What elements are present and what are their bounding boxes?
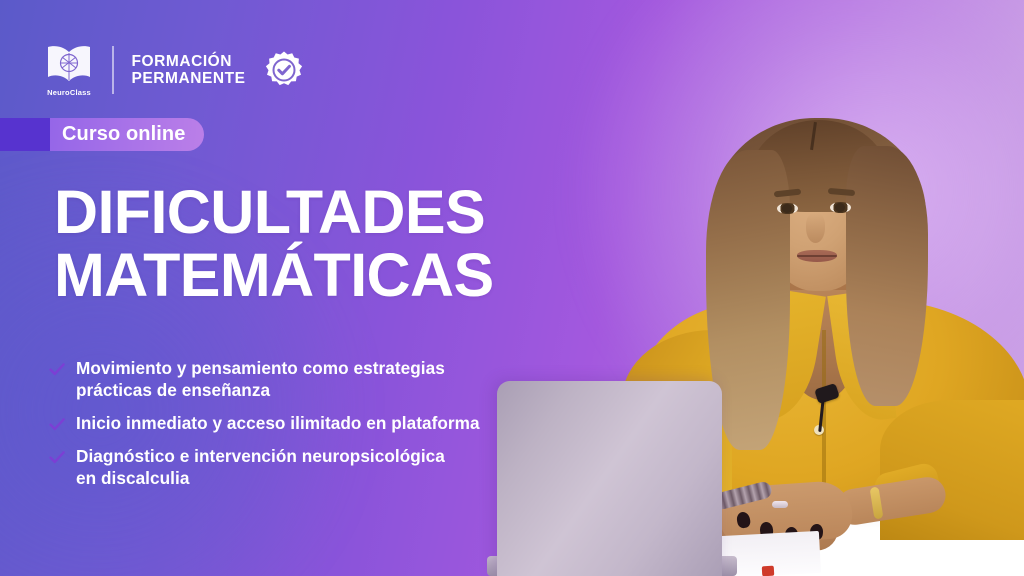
laptop-lid: NeuroClass [497,381,722,576]
program-label: FORMACIÓN PERMANENTE [132,53,246,88]
list-item-line1: Inicio inmediato y acceso ilimitado en p… [76,412,480,434]
badge-label: Curso online [62,123,185,146]
list-item-line1: Diagnóstico e intervención neuropsicológ… [76,445,445,467]
header-divider [112,46,114,94]
check-icon [48,448,66,466]
neuroclass-logo: NeuroClass [46,43,92,97]
promo-slide: NeuroClass NeuroClass FORMACIÓN PERMANEN… [0,0,1024,576]
list-item-line2: en discalculia [76,467,445,489]
check-icon [48,415,66,433]
list-item-text: Movimiento y pensamiento como estrategia… [76,357,445,401]
list-item-line1: Movimiento y pensamiento como estrategia… [76,357,445,379]
page-title: DIFICULTADES MATEMÁTICAS [54,181,494,307]
badge-accent-block [0,118,50,151]
list-item-text: Diagnóstico e intervención neuropsicológ… [76,445,445,489]
program-label-line2: PERMANENTE [132,70,246,88]
title-line-1: DIFICULTADES [54,181,494,244]
list-item-text: Inicio inmediato y acceso ilimitado en p… [76,412,480,434]
eye-left [777,203,798,214]
open-book-brain-icon [46,43,92,85]
list-item: Inicio inmediato y acceso ilimitado en p… [48,412,518,434]
hair-right-strand [846,146,928,406]
list-item: Movimiento y pensamiento como estrategia… [48,357,518,401]
logo-brand-name: NeuroClass [46,88,92,97]
course-type-badge: Curso online [0,118,204,151]
lip-line [797,255,837,257]
nose [806,213,825,243]
badge-pill: Curso online [50,118,204,151]
check-icon [48,360,66,378]
list-item-line2: prácticas de enseñanza [76,379,445,401]
eye-right [830,202,851,213]
feature-list: Movimiento y pensamiento como estrategia… [48,357,518,489]
paper-mark [762,566,775,576]
title-line-2: MATEMÁTICAS [54,244,494,307]
list-item: Diagnóstico e intervención neuropsicológ… [48,445,518,489]
finger-ring [772,501,788,508]
brand-header: NeuroClass FORMACIÓN PERMANENTE [46,42,304,98]
verified-badge-icon [264,50,304,90]
program-label-line1: FORMACIÓN [132,53,246,71]
